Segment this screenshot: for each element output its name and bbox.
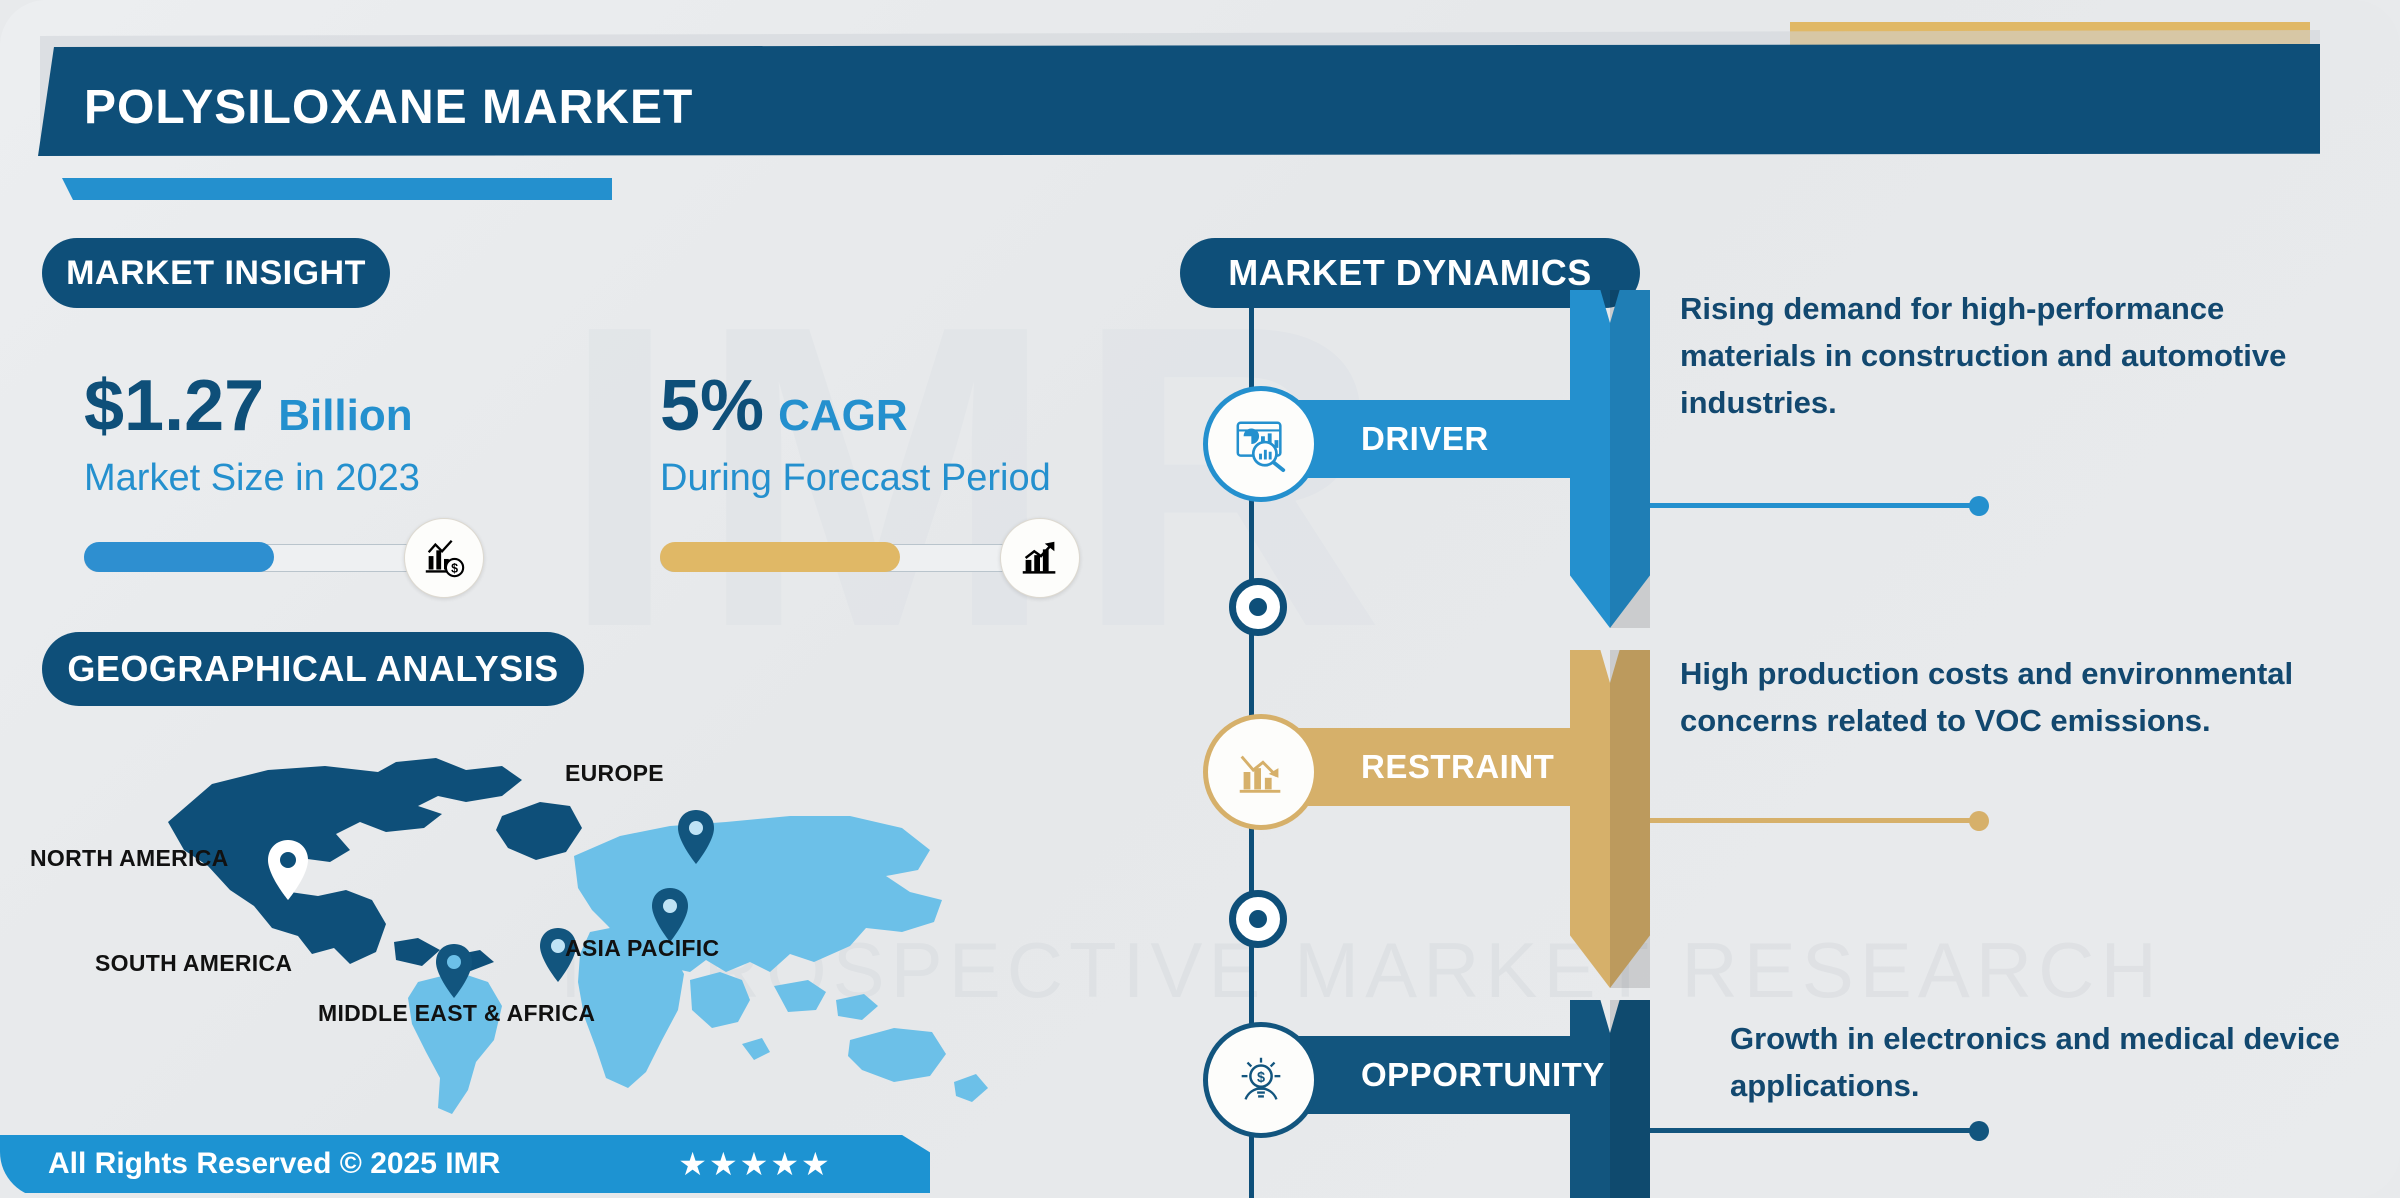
section-pill-market-insight: MARKET INSIGHT [42, 238, 390, 308]
page-title: POLYSILOXANE MARKET [84, 80, 693, 135]
header-underline-accent [62, 178, 612, 200]
region-label-europe: EUROPE [565, 760, 664, 787]
declining-bar-chart-icon [1203, 714, 1319, 830]
dynamics-text-driver: Rising demand for high-performance mater… [1680, 285, 2320, 426]
ribbon-restraint [1570, 650, 1650, 988]
progress-fill [84, 542, 274, 572]
dynamics-rule-restraint [1650, 818, 1980, 823]
lightbulb-dollar-icon: $ [1203, 1022, 1319, 1138]
dynamics-label-restraint: RESTRAINT [1361, 748, 1554, 786]
dynamics-label-driver: DRIVER [1361, 420, 1489, 458]
footer-bar: All Rights Reserved © 2025 IMR ★★★★★ [0, 1135, 930, 1193]
dynamics-rule-driver [1650, 503, 1980, 508]
dynamics-text-opportunity: Growth in electronics and medical device… [1730, 1015, 2370, 1109]
world-map: NORTH AMERICA SOUTH AMERICA EUROPE ASIA … [150, 710, 1050, 1130]
map-north-america [168, 758, 582, 972]
timeline-node-2 [1229, 890, 1287, 948]
dynamics-bar-restraint: RESTRAINT [1249, 728, 1599, 806]
dynamics-rule-opportunity [1650, 1128, 1980, 1133]
kpi-progress: $ [84, 534, 420, 580]
timeline-node-1 [1229, 578, 1287, 636]
copyright-text: All Rights Reserved © 2025 IMR [48, 1147, 500, 1181]
dynamics-text-restraint: High production costs and environmental … [1680, 650, 2320, 744]
region-label-north-america: NORTH AMERICA [30, 845, 229, 872]
kpi-caption: Market Size in 2023 [84, 457, 420, 500]
kpi-unit: Billion [278, 391, 412, 441]
kpi-caption: During Forecast Period [660, 457, 1051, 500]
bar-chart-dollar-icon: $ [404, 518, 484, 598]
kpi-value: $1.27 [84, 365, 264, 447]
dynamics-bar-driver: DRIVER [1249, 400, 1599, 478]
kpi-market-size: $1.27 Billion Market Size in 2023 $ [84, 365, 420, 580]
kpi-progress [660, 534, 1051, 580]
growth-arrow-chart-icon [1000, 518, 1080, 598]
dynamics-bar-opportunity: $ OPPORTUNITY [1249, 1036, 1599, 1114]
region-label-asia-pacific: ASIA PACIFIC [565, 935, 719, 962]
rating-stars: ★★★★★ [678, 1145, 831, 1183]
section-pill-geographical-analysis: GEOGRAPHICAL ANALYSIS [42, 632, 584, 706]
progress-fill [660, 542, 900, 572]
svg-text:$: $ [451, 561, 458, 575]
region-label-south-america: SOUTH AMERICA [95, 950, 292, 977]
svg-text:$: $ [1257, 1070, 1265, 1086]
infographic-canvas: IMR INTROSPECTIVE MARKET RESEARCH POLYSI… [0, 0, 2400, 1198]
chart-magnifier-icon [1203, 386, 1319, 502]
kpi-value: 5% [660, 365, 764, 447]
dynamics-label-opportunity: OPPORTUNITY [1361, 1056, 1605, 1094]
region-label-middle-east-africa: MIDDLE EAST & AFRICA [318, 1000, 595, 1027]
kpi-unit: CAGR [778, 391, 908, 441]
kpi-cagr: 5% CAGR During Forecast Period [660, 365, 1051, 580]
